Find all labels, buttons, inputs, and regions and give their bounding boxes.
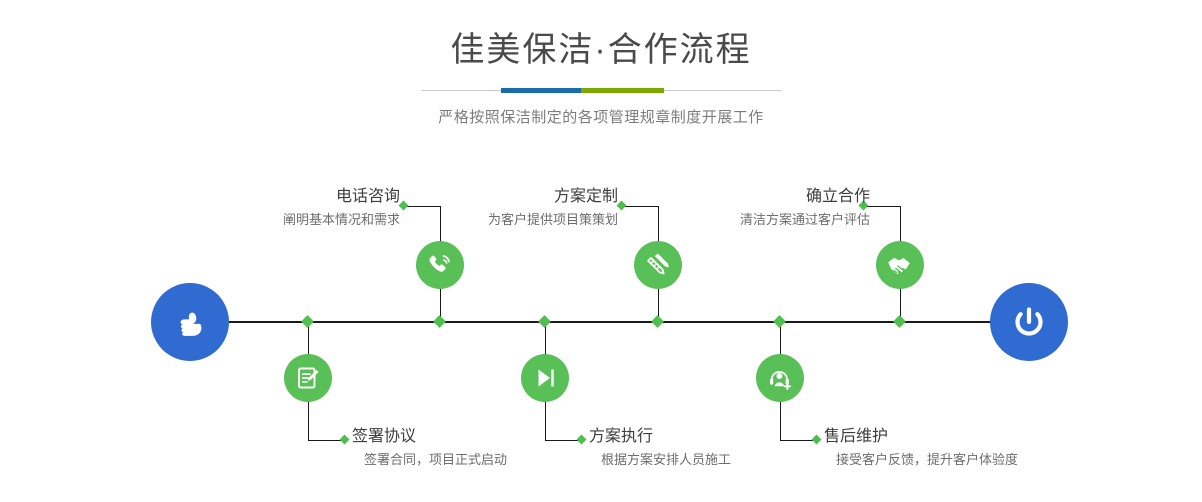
divider-segment-blue [501, 88, 581, 93]
step-2-axis-node [301, 315, 314, 328]
step-2-elbow-v [308, 401, 309, 440]
handshake-icon [885, 250, 915, 280]
step-5-title: 确立合作 [740, 187, 870, 207]
step-2-elbow-h [308, 440, 344, 441]
step-3-title: 方案定制 [488, 187, 618, 207]
step-5-icon-badge [876, 241, 924, 289]
step-1-axis-node [433, 315, 446, 328]
step-3-icon-badge [634, 241, 682, 289]
step-2-title: 签署协议 [352, 427, 507, 447]
pencil-ruler-icon [644, 251, 672, 279]
page-subtitle: 严格按照保洁制定的各项管理规章制度开展工作 [0, 107, 1202, 129]
step-2-label-marker [340, 435, 350, 445]
step-6-desc: 接受客户反馈，提升客户体验度 [836, 450, 1018, 470]
step-3-axis-node [651, 315, 664, 328]
pointing-hand-icon [168, 300, 212, 344]
step-6-axis-node [773, 315, 786, 328]
step-4-label: 方案执行 根据方案安排人员施工 [589, 427, 731, 470]
step-4-label-marker [577, 435, 587, 445]
divider-segment-green [581, 88, 664, 93]
play-next-icon [531, 364, 559, 392]
step-4-icon-badge [521, 354, 569, 402]
step-6-label-marker [812, 435, 822, 445]
step-4-elbow-h [545, 440, 581, 441]
step-5-elbow-v [900, 206, 901, 243]
step-5-label: 确立合作 清洁方案通过客户评估 [740, 187, 870, 230]
step-3-label: 方案定制 为客户提供项目策策划 [488, 187, 618, 230]
step-2-icon-badge [284, 354, 332, 402]
step-2-label: 签署协议 签署合同，项目正式启动 [352, 427, 507, 470]
step-1-desc: 阐明基本情况和需求 [283, 210, 400, 230]
step-3-elbow-h [624, 206, 658, 207]
customer-service-add-icon [766, 364, 794, 392]
step-5-elbow-h [866, 206, 900, 207]
step-5-axis-node [893, 315, 906, 328]
timeline-start-badge [151, 283, 229, 361]
step-4-title: 方案执行 [589, 427, 731, 447]
step-6-elbow-v [780, 401, 781, 440]
page-title: 佳美保洁·合作流程 [0, 28, 1202, 72]
step-1-title: 电话咨询 [283, 187, 400, 207]
step-4-axis-node [538, 315, 551, 328]
step-4-desc: 根据方案安排人员施工 [601, 450, 731, 470]
step-5-desc: 清洁方案通过客户评估 [740, 210, 870, 230]
title-divider [421, 85, 781, 97]
timeline-end-badge [990, 283, 1068, 361]
step-3-desc: 为客户提供项目策策划 [488, 210, 618, 230]
process-flow-infographic: 佳美保洁·合作流程 严格按照保洁制定的各项管理规章制度开展工作 [0, 0, 1202, 502]
step-6-icon-badge [756, 354, 804, 402]
step-1-label-marker [399, 201, 409, 211]
step-3-label-marker [617, 201, 627, 211]
step-2-desc: 签署合同，项目正式启动 [364, 450, 507, 470]
header: 佳美保洁·合作流程 严格按照保洁制定的各项管理规章制度开展工作 [0, 28, 1202, 129]
step-1-label: 电话咨询 阐明基本情况和需求 [283, 187, 400, 230]
step-6-elbow-h [780, 440, 816, 441]
step-3-elbow-v [658, 206, 659, 243]
document-edit-icon [294, 364, 322, 392]
step-6-label: 售后维护 接受客户反馈，提升客户体验度 [824, 427, 1018, 470]
step-1-elbow-v [440, 206, 441, 243]
step-6-title: 售后维护 [824, 427, 1018, 447]
step-1-icon-badge [416, 241, 464, 289]
step-1-elbow-h [406, 206, 440, 207]
step-4-elbow-v [545, 401, 546, 440]
phone-call-icon [425, 250, 455, 280]
power-icon [1007, 300, 1051, 344]
